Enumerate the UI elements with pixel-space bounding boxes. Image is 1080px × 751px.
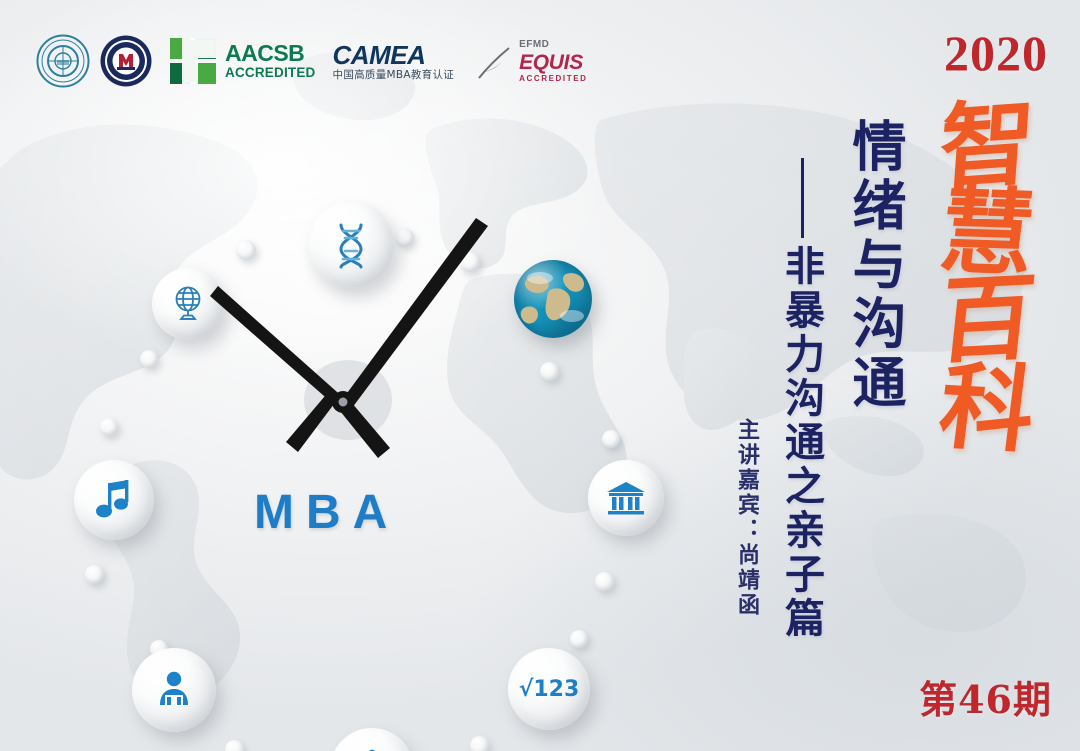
- camea-line1: CAMEA: [333, 42, 455, 68]
- camea-logo: CAMEA 中国高质量MBA教育认证: [333, 42, 455, 81]
- camea-line2: 中国高质量MBA教育认证: [333, 70, 455, 81]
- sphere-clock: √123 MBA: [40, 100, 660, 720]
- equis-swoosh-icon: [475, 44, 515, 84]
- main-title: 情绪与沟通: [845, 118, 902, 413]
- small-sphere-dot: [470, 736, 489, 751]
- poster-root: AACSB ACCREDITED CAMEA 中国高质量MBA教育认证 EFMD…: [0, 0, 1080, 751]
- title-divider: [801, 158, 804, 238]
- equis-logo: EFMD EQUIS ACCREDITED: [475, 38, 587, 84]
- university-seal-icon-1: [36, 34, 90, 88]
- issue-label: 第46期: [919, 681, 1052, 719]
- calligraphy-char-4: 科: [935, 361, 1040, 459]
- aacsb-logo: AACSB ACCREDITED: [168, 36, 316, 86]
- speaker-line: 主讲嘉宾：尚靖函: [734, 418, 758, 618]
- accreditation-logo-bar: AACSB ACCREDITED CAMEA 中国高质量MBA教育认证 EFMD…: [36, 28, 588, 94]
- aacsb-mark-icon: [168, 36, 218, 86]
- equis-line2: ACCREDITED: [519, 75, 587, 83]
- university-seal-icon-2: [99, 34, 153, 88]
- aacsb-line2: ACCREDITED: [225, 66, 316, 80]
- sub-title: 非暴力沟通之亲子篇: [780, 245, 822, 641]
- equis-line1: EQUIS: [519, 52, 587, 73]
- mba-word: MBA: [254, 485, 399, 540]
- clock-hands: [40, 100, 660, 720]
- aacsb-line1: AACSB: [225, 42, 316, 65]
- equis-line0: EFMD: [519, 40, 587, 50]
- brand-calligraphy: 智 慧 百 科: [912, 100, 1062, 456]
- year-label: 2020: [944, 28, 1048, 78]
